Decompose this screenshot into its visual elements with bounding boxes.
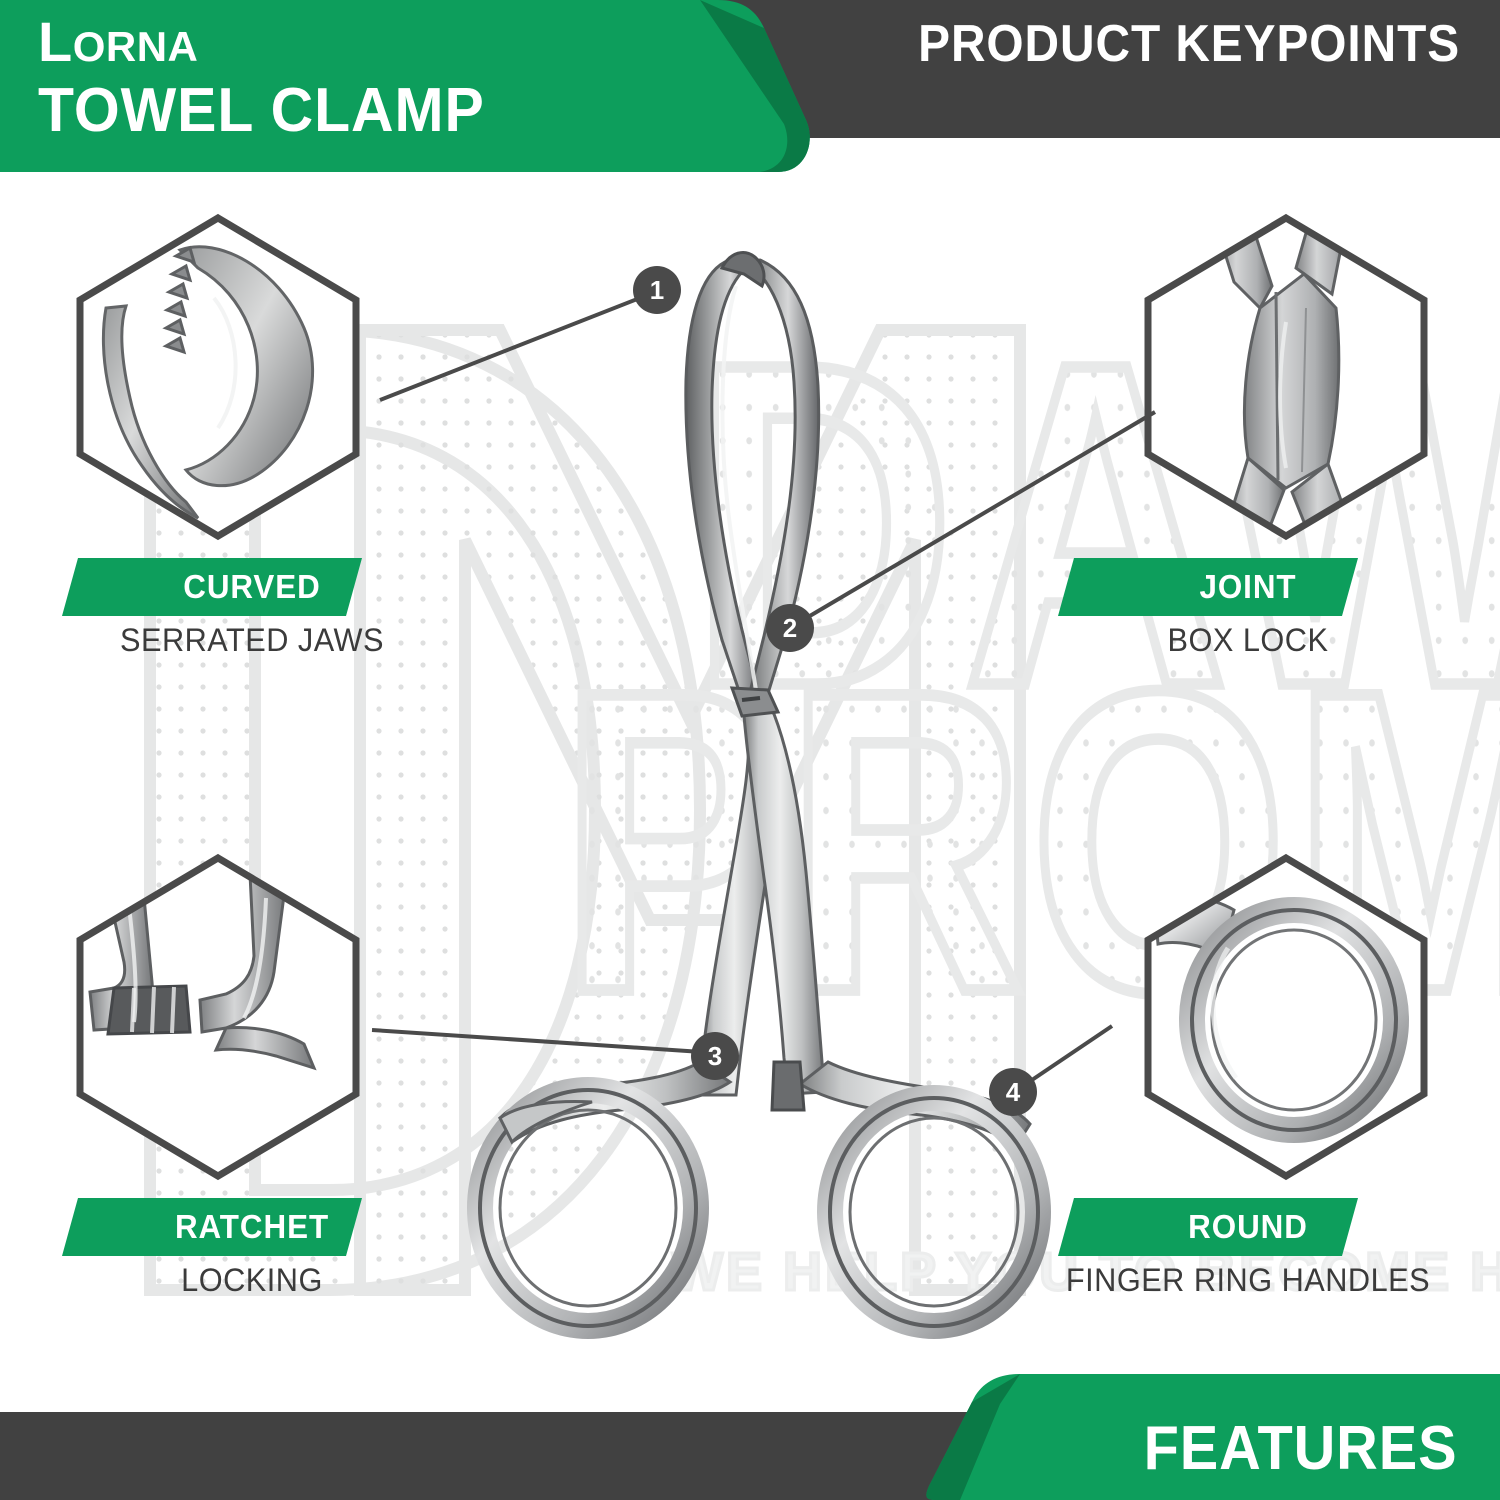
callout-ratchet[interactable]: RATCHET LOCKING (62, 852, 442, 1299)
clamp-right-shank (744, 698, 824, 1094)
tag-band-ratchet: RATCHET (62, 1198, 442, 1256)
callout-round[interactable]: ROUND FINGER RING HANDLES (1058, 852, 1438, 1299)
ratchet-closeup-icon (68, 852, 368, 1182)
marker-3-label: 3 (708, 1041, 722, 1071)
clamp-left-shank (700, 700, 776, 1095)
callout-joint[interactable]: JOINT BOX LOCK (1058, 212, 1438, 659)
brand-first-letter: L (38, 10, 73, 73)
brand-name: LORNA (38, 14, 508, 70)
callout-title-joint: JOINT (1068, 558, 1429, 616)
finger-ring-closeup-icon (1136, 852, 1436, 1182)
marker-3[interactable]: 3 (691, 1032, 739, 1080)
footer-section-label: FEATURES (1144, 1413, 1458, 1484)
hexagon-frame-joint (1136, 212, 1436, 542)
brand-rest: ORNA (73, 23, 199, 70)
header-banner: LORNA TOWEL CLAMP PRODUCT KEYPOINTS (0, 0, 1500, 180)
callout-subtitle-curved: SERRATED JAWS (70, 622, 435, 659)
callout-curved[interactable]: CURVED SERRATED JAWS (62, 212, 442, 659)
clamp-ratchet-crossing (500, 1062, 1030, 1146)
header-section-label: PRODUCT KEYPOINTS (918, 14, 1460, 74)
finger-ring-left (480, 1090, 696, 1326)
serrated-jaw-closeup-icon (68, 212, 368, 542)
callout-subtitle-ratchet: LOCKING (70, 1262, 435, 1299)
page-title: TOWEL CLAMP (38, 78, 485, 143)
hexagon-frame-curved (68, 212, 368, 542)
marker-4[interactable]: 4 (989, 1068, 1037, 1116)
box-lock-closeup-icon (1136, 212, 1436, 542)
tag-band-curved: CURVED (62, 558, 442, 616)
header-title-block: LORNA TOWEL CLAMP (38, 14, 508, 143)
clamp-jaws-group (686, 253, 819, 700)
callout-title-ratchet: RATCHET (72, 1198, 433, 1256)
callout-title-round: ROUND (1068, 1198, 1429, 1256)
marker-1[interactable]: 1 (633, 266, 681, 314)
marker-1-label: 1 (650, 275, 664, 305)
box-lock-joint (732, 688, 778, 716)
callout-title-curved: CURVED (72, 558, 433, 616)
hexagon-frame-round (1136, 852, 1436, 1182)
tag-band-round: ROUND (1058, 1198, 1438, 1256)
marker-4-label: 4 (1006, 1077, 1021, 1107)
callout-subtitle-round: FINGER RING HANDLES (1066, 1262, 1431, 1299)
marker-2[interactable]: 2 (766, 604, 814, 652)
tag-band-joint: JOINT (1058, 558, 1438, 616)
infographic-canvas: DAWN PROMED WE HELP YOU TO BECOME HEALTH… (0, 0, 1500, 1500)
marker-2-label: 2 (783, 613, 797, 643)
finger-ring-right (830, 1098, 1038, 1326)
callout-subtitle-joint: BOX LOCK (1066, 622, 1431, 659)
footer-banner: FEATURES (0, 1360, 1500, 1500)
hexagon-frame-ratchet (68, 852, 368, 1182)
watermark-monogram-m (360, 330, 1020, 1290)
